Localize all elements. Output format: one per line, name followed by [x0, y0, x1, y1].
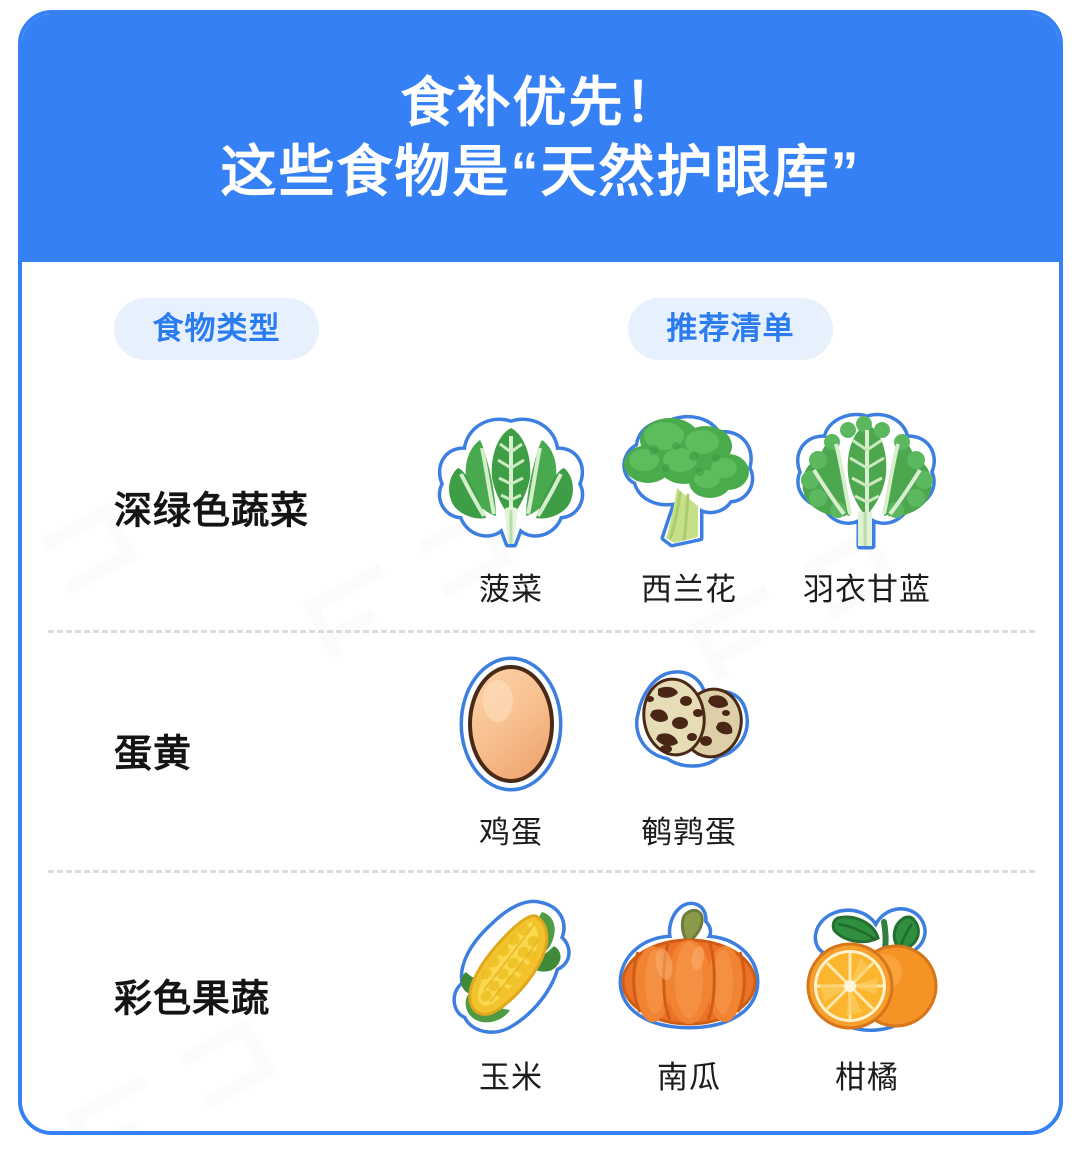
list-item-label: 羽衣甘蓝	[803, 564, 931, 609]
quail-egg-icon	[614, 649, 764, 799]
table-row: 深绿色蔬菜	[22, 384, 1059, 630]
pumpkin-icon	[614, 894, 764, 1044]
list-item[interactable]: 鹌鹑蛋	[600, 649, 778, 852]
info-card: 食补优先！ 这些食物是“天然护眼库”	[18, 10, 1063, 1135]
list-item[interactable]: 西兰花	[600, 406, 778, 609]
table-row: 蛋黄	[22, 630, 1059, 870]
row-category-label: 蛋黄	[114, 723, 192, 778]
list-item-label: 鹌鹑蛋	[641, 807, 737, 852]
list-item-label: 西兰花	[641, 564, 737, 609]
citrus-icon	[792, 894, 942, 1044]
broccoli-icon	[614, 406, 764, 556]
list-item[interactable]: 菠菜	[422, 406, 600, 609]
list-item-label: 玉米	[479, 1052, 543, 1097]
list-item-label: 鸡蛋	[479, 807, 543, 852]
row-items: 鸡蛋	[422, 630, 1039, 870]
card-body: 食物类型 推荐清单 深绿色蔬菜	[22, 262, 1059, 1131]
spinach-icon	[436, 406, 586, 556]
list-item-label: 柑橘	[835, 1052, 899, 1097]
list-item[interactable]: 鸡蛋	[422, 649, 600, 852]
page-title-line-1: 食补优先！	[401, 69, 681, 137]
row-category-label: 深绿色蔬菜	[114, 480, 309, 535]
page-title-line-2: 这些食物是“天然护眼库”	[221, 137, 861, 208]
corn-icon	[436, 894, 586, 1044]
list-item[interactable]: 玉米	[422, 894, 600, 1097]
table-row: 彩色果蔬	[22, 870, 1059, 1120]
chicken-egg-icon	[436, 649, 586, 799]
list-item[interactable]: 南瓜	[600, 894, 778, 1097]
column-header-food-type: 食物类型	[114, 298, 319, 360]
kale-icon	[792, 406, 942, 556]
row-category-label: 彩色果蔬	[114, 968, 270, 1023]
list-item[interactable]: 柑橘	[778, 894, 956, 1097]
column-headers: 食物类型 推荐清单	[22, 298, 1059, 360]
column-header-recommend-list: 推荐清单	[628, 298, 833, 360]
row-items: 菠菜	[422, 384, 1039, 630]
list-item-label: 菠菜	[479, 564, 543, 609]
list-item[interactable]: 羽衣甘蓝	[778, 406, 956, 609]
row-items: 玉米	[422, 870, 1039, 1120]
card-header: 食补优先！ 这些食物是“天然护眼库”	[22, 14, 1059, 262]
list-item-label: 南瓜	[657, 1052, 721, 1097]
